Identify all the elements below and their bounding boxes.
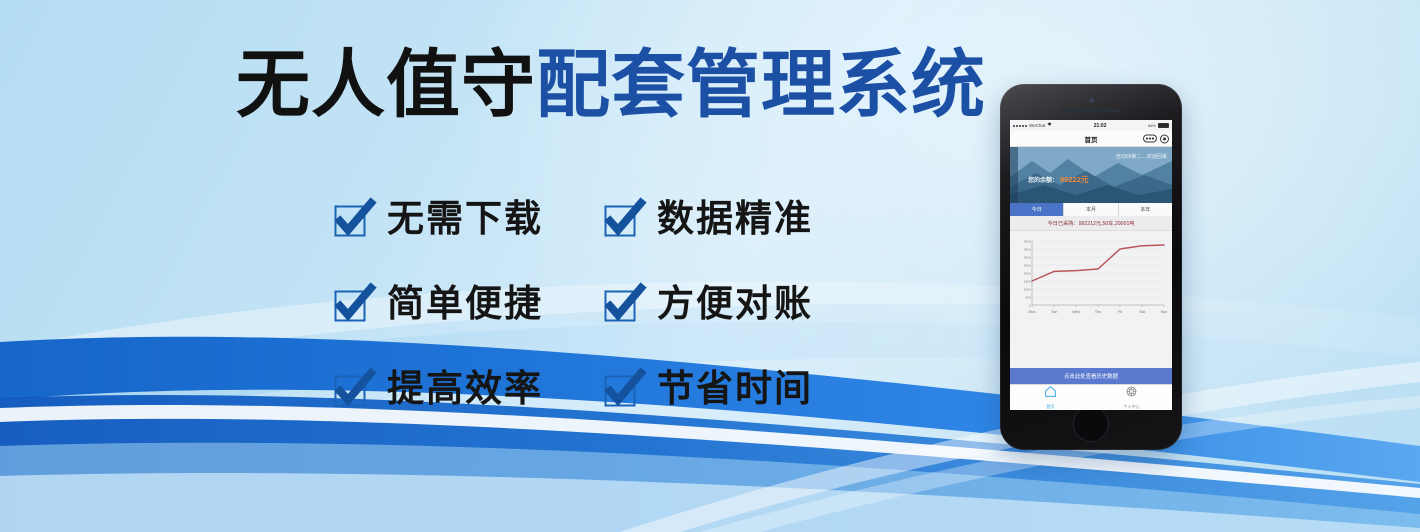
tabbar-item-profile[interactable]: 个人中心 xyxy=(1091,385,1172,410)
balance-value: 99222元 xyxy=(1060,174,1088,185)
tab-year[interactable]: 本年 xyxy=(1119,203,1172,216)
period-tabs: 今日 本月 本年 xyxy=(1010,203,1172,216)
svg-text:500: 500 xyxy=(1025,295,1030,299)
feature-item-0: 无需下载 xyxy=(333,199,603,239)
feature-label: 方便对账 xyxy=(657,285,813,322)
svg-text:2500: 2500 xyxy=(1024,263,1031,267)
status-bar: WeChat 21:02 66% xyxy=(1010,120,1172,131)
tabbar-label: 首页 xyxy=(1046,404,1054,410)
feature-list: 无需下载 数据精准 简单便捷 xyxy=(333,176,873,431)
home-button[interactable] xyxy=(1073,406,1109,442)
svg-text:Mon: Mon xyxy=(1029,310,1036,314)
tabbar-item-home[interactable]: 首页 xyxy=(1010,385,1091,410)
feature-item-1: 数据精准 xyxy=(603,199,873,239)
close-circle-icon[interactable] xyxy=(1160,134,1169,143)
svg-text:1500: 1500 xyxy=(1024,279,1031,283)
checkbox-checked-icon xyxy=(333,284,373,324)
svg-text:Thu: Thu xyxy=(1095,310,1101,314)
svg-text:3000: 3000 xyxy=(1024,255,1031,259)
feature-label: 数据精准 xyxy=(657,200,813,237)
svg-text:Fri: Fri xyxy=(1118,310,1122,314)
battery-percent-label: 66% xyxy=(1148,123,1156,128)
svg-text:2000: 2000 xyxy=(1024,271,1031,275)
page-title: 无人值守配套管理系统 xyxy=(236,48,986,122)
checkbox-checked-icon xyxy=(603,284,643,324)
phone-mockup: WeChat 21:02 66% 首页 xyxy=(1000,84,1182,450)
feature-item-5: 节省时间 xyxy=(603,369,873,409)
tabbar-label: 个人中心 xyxy=(1123,404,1140,410)
wifi-icon xyxy=(1047,122,1052,129)
svg-text:1000: 1000 xyxy=(1024,287,1031,291)
carrier-label: WeChat xyxy=(1029,123,1045,128)
svg-text:3500: 3500 xyxy=(1024,247,1031,251)
feature-label: 简单便捷 xyxy=(387,285,543,322)
feature-item-4: 提高效率 xyxy=(333,369,603,409)
feature-item-2: 简单便捷 xyxy=(333,284,603,324)
home-icon xyxy=(1044,385,1057,403)
page-title-accent: 配套管理系统 xyxy=(536,43,986,126)
tab-today[interactable]: 今日 xyxy=(1010,203,1064,216)
nav-actions xyxy=(1143,134,1169,143)
hero-greeting: 自动99第二...,欢迎回来 xyxy=(1116,153,1167,160)
checkbox-checked-icon xyxy=(333,199,373,239)
summary-text: 今日已采购：992212元,50车,20001吨 xyxy=(1010,216,1172,231)
history-chart: 05001000150020002500300035004000MonTueWe… xyxy=(1010,231,1172,368)
view-history-button[interactable]: 点击此处查看历史数据 xyxy=(1010,368,1172,384)
battery-icon xyxy=(1158,123,1169,128)
more-dots-icon[interactable] xyxy=(1143,135,1157,143)
feature-label: 无需下载 xyxy=(387,200,543,237)
svg-text:Sun: Sun xyxy=(1161,310,1167,314)
chart-canvas: 05001000150020002500300035004000MonTueWe… xyxy=(1010,231,1172,327)
promo-banner: 无人值守配套管理系统 无需下载 数据精准 xyxy=(0,0,1420,532)
nav-bar: 首页 xyxy=(1010,131,1172,147)
feature-item-3: 方便对账 xyxy=(603,284,873,324)
svg-text:Sat: Sat xyxy=(1139,310,1144,314)
checkbox-checked-icon xyxy=(603,199,643,239)
feature-label: 提高效率 xyxy=(387,370,543,407)
hero-banner: 自动99第二...,欢迎回来 您的余额： 99222元 xyxy=(1010,147,1172,203)
nav-title: 首页 xyxy=(1085,134,1098,144)
phone-screen: WeChat 21:02 66% 首页 xyxy=(1010,120,1172,410)
checkbox-checked-icon xyxy=(333,369,373,409)
clock-label: 21:02 xyxy=(1094,123,1107,129)
gear-icon xyxy=(1125,385,1138,403)
svg-text:Tue: Tue xyxy=(1051,310,1057,314)
signal-dots-icon xyxy=(1013,125,1027,127)
checkbox-checked-icon xyxy=(603,369,643,409)
balance-row: 您的余额： 99222元 xyxy=(1028,174,1088,185)
page-title-primary: 无人值守 xyxy=(236,43,536,126)
status-bar-right: 66% xyxy=(1148,123,1169,128)
balance-label: 您的余额： xyxy=(1028,175,1058,184)
bottom-tabbar: 首页 个人中心 xyxy=(1010,384,1172,410)
speaker-grill xyxy=(1062,109,1120,112)
svg-text:Wed: Wed xyxy=(1072,310,1079,314)
feature-label: 节省时间 xyxy=(657,370,813,407)
tab-month[interactable]: 本月 xyxy=(1064,203,1118,216)
status-bar-left: WeChat xyxy=(1013,122,1052,129)
camera-icon xyxy=(1089,98,1094,103)
svg-text:4000: 4000 xyxy=(1024,239,1031,243)
